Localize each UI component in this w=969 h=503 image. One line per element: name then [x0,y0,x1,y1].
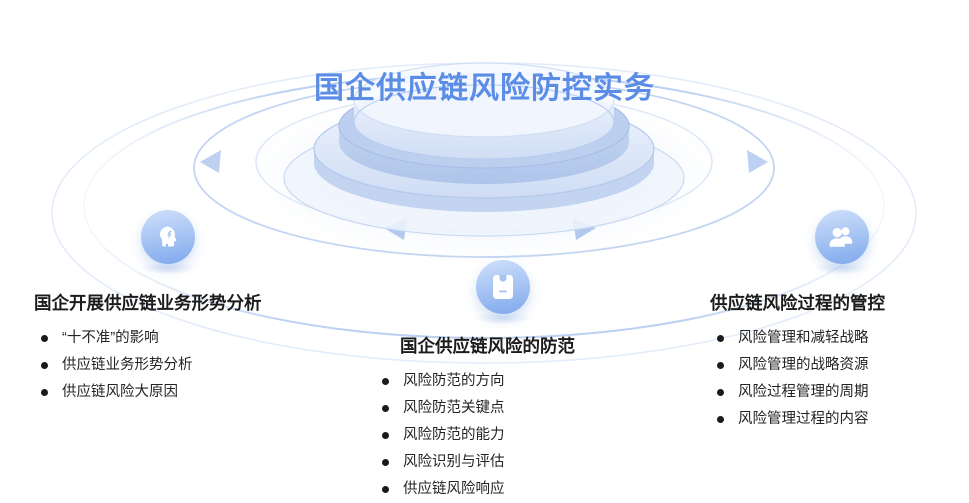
orbit-arrow-bottom-left [384,218,407,240]
bullet-dot-icon [382,459,389,466]
list-item-label: 风险过程管理的周期 [738,384,869,400]
list-item: 风险防范的能力 [375,422,600,449]
list-item-label: 风险管理的战略资源 [738,357,869,373]
node-center[interactable] [476,260,530,314]
list-item-label: “十不准”的影响 [62,330,159,346]
node-right[interactable] [815,210,869,264]
bullet-dot-icon [717,335,724,342]
section-left: 国企开展供应链业务形势分析 “十不准”的影响 供应链业务形势分析 供应链风险大原… [34,290,262,406]
section-right-list: 风险管理和减轻战略 风险管理的战略资源 风险过程管理的周期 风险管理过程的内容 [710,325,885,433]
list-item: 风险管理的战略资源 [710,352,885,379]
list-item: 风险识别与评估 [375,449,600,476]
bullet-dot-icon [717,389,724,396]
bullet-dot-icon [41,362,48,369]
bullet-dot-icon [717,362,724,369]
bullet-dot-icon [41,335,48,342]
page-title: 国企供应链风险防控实务 [0,63,969,107]
list-item: 风险过程管理的周期 [710,379,885,406]
list-item: 风险防范的方向 [375,368,600,395]
list-item-label: 风险防范的方向 [403,373,505,389]
clipboard-icon [492,274,514,300]
list-item: 风险管理过程的内容 [710,406,885,433]
podium-disc-2-side [339,126,629,184]
bullet-dot-icon [382,432,389,439]
list-item: 风险防范关键点 [375,395,600,422]
list-item-label: 供应链风险响应 [403,481,505,497]
bullet-dot-icon [382,486,389,493]
podium-disc-4 [284,120,684,236]
list-item-label: 供应链风险大原因 [62,384,178,400]
podium-disc-4-edge [284,120,684,236]
podium-disc-3-edge [314,100,654,198]
list-item-label: 风险识别与评估 [403,454,505,470]
section-right-heading: 供应链风险过程的管控 [710,290,885,315]
podium-disc-3 [314,100,654,198]
bullet-dot-icon [41,389,48,396]
head-lightning-icon [155,224,181,250]
list-item-label: 风险防范关键点 [403,400,505,416]
section-right: 供应链风险过程的管控 风险管理和减轻战略 风险管理的战略资源 风险过程管理的周期… [710,290,885,433]
list-item-label: 风险管理和减轻战略 [738,330,869,346]
orbit-arrow-top-left [200,150,221,173]
list-item-label: 供应链业务形势分析 [62,357,193,373]
list-item-label: 风险管理过程的内容 [738,411,869,427]
list-item: 风险管理和减轻战略 [710,325,885,352]
orbit-ring-inner [256,92,712,232]
bullet-dot-icon [382,405,389,412]
podium-halo [219,79,749,271]
orbit-arrow-bottom-right [573,218,596,240]
list-item: 供应链业务形势分析 [34,352,262,379]
podium-disc-3-side [314,149,654,212]
list-item-label: 风险防范的能力 [403,427,505,443]
list-item: 供应链风险大原因 [34,379,262,406]
users-icon [829,225,855,249]
orbit-arrow-top-right [747,150,768,173]
bullet-dot-icon [717,416,724,423]
section-center-list: 风险防范的方向 风险防范关键点 风险防范的能力 风险识别与评估 供应链风险响应 [375,368,600,503]
section-left-heading: 国企开展供应链业务形势分析 [34,290,262,315]
node-left[interactable] [141,210,195,264]
list-item: “十不准”的影响 [34,325,262,352]
section-left-list: “十不准”的影响 供应链业务形势分析 供应链风险大原因 [34,325,262,406]
section-center: 国企供应链风险的防范 风险防范的方向 风险防范关键点 风险防范的能力 风险识别与… [375,333,600,503]
section-center-heading: 国企供应链风险的防范 [375,333,600,358]
podium-cylinder-side [354,100,614,159]
bullet-dot-icon [382,378,389,385]
